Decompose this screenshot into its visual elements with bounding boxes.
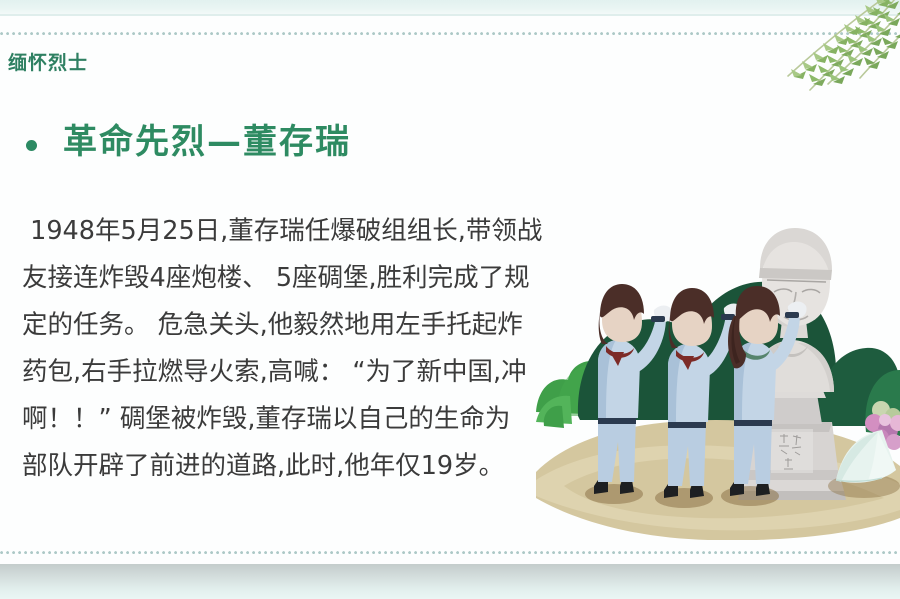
page-kicker: 缅怀烈士: [8, 54, 88, 73]
foot-shadow: [585, 484, 643, 504]
dotted-rule-bottom: [0, 551, 900, 555]
body-line: 药包,右手拉燃导火索,高喊： “为了新中国,冲: [22, 349, 570, 396]
body-line: 友接连炸毁4座炮楼、 5座碉堡,胜利完成了规: [22, 255, 570, 302]
body-paragraph: 1948年5月25日,董存瑞任爆破组组长,带领战 友接连炸毁4座炮楼、 5座碉堡…: [22, 208, 570, 490]
body-line: 定的任务。 危急关头,他毅然地用左手托起炸: [22, 302, 570, 349]
memorial-illustration: [536, 180, 900, 540]
body-line: 1948年5月25日,董存瑞任爆破组组长,带领战: [22, 208, 570, 255]
bottom-gradient-band: [0, 564, 900, 599]
foot-shadow: [721, 486, 779, 506]
page-title: 革命先烈—董存瑞: [26, 124, 351, 161]
slide-canvas: 缅怀烈士 革命先烈—董存瑞 1948年5月25日,董存瑞任爆破组组长,带领战 友…: [0, 0, 900, 599]
foot-shadow: [655, 488, 713, 508]
body-line: 啊！！” 碉堡被炸毁,董存瑞以自己的生命为: [22, 396, 570, 443]
bullet-dot-icon: [26, 140, 37, 151]
page-title-text: 革命先烈—董存瑞: [63, 124, 351, 161]
body-line: 部队开辟了前进的道路,此时,他年仅19岁。: [22, 443, 570, 490]
willow-branch-decoration: [690, 0, 900, 114]
